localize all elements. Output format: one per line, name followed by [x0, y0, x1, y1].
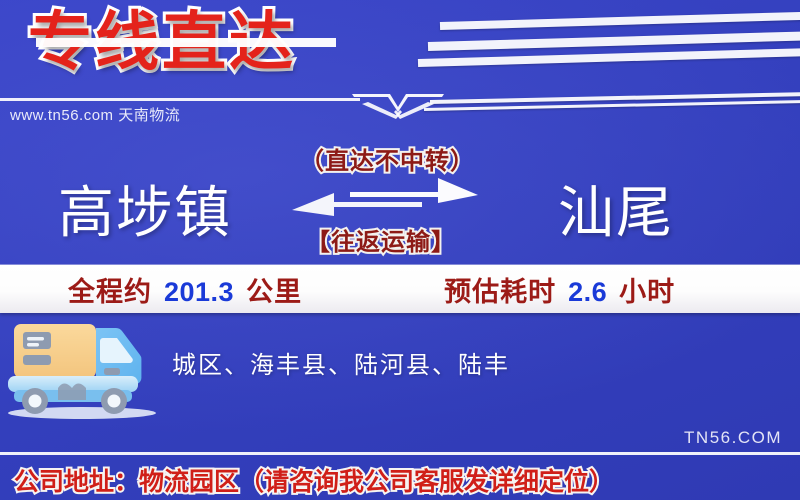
destination-city: 汕尾 [558, 168, 674, 249]
website-label: www.tn56.com 天南物流 [10, 104, 180, 125]
chevron-down-icon [352, 92, 444, 126]
duration-stat: 预估耗时 2.6 小时 [444, 270, 675, 309]
distance-label: 全程约 [68, 270, 152, 309]
watermark-label: TN56.COM [684, 428, 782, 448]
delivery-truck-icon [4, 316, 164, 420]
round-trip-badge: 【往返运输】 [306, 222, 456, 257]
header-divider [0, 98, 360, 101]
duration-unit: 小时 [619, 270, 675, 309]
origin-city: 高埗镇 [58, 168, 232, 249]
distance-value: 201.3 [164, 277, 234, 308]
footer-divider [0, 452, 800, 455]
logistics-route-poster: 专线直达 www.tn56.com 天南物流 高埗镇 汕尾 （直达不中转） 【往… [0, 0, 800, 500]
direct-service-badge: （直达不中转） [300, 141, 475, 176]
distance-unit: 公里 [246, 270, 302, 309]
coverage-areas: 城区、海丰县、陆河县、陆丰 [172, 345, 510, 380]
route-stats-bar: 全程约 201.3 公里 预估耗时 2.6 小时 [0, 265, 800, 313]
page-title: 专线直达 [28, 2, 296, 82]
duration-label: 预估耗时 [444, 270, 556, 309]
double-arrow-icon [288, 176, 484, 218]
company-address: 公司地址：物流园区（请咨询我公司客服发详细定位） [14, 462, 614, 498]
duration-value: 2.6 [568, 277, 607, 308]
distance-stat: 全程约 201.3 公里 [68, 270, 302, 309]
